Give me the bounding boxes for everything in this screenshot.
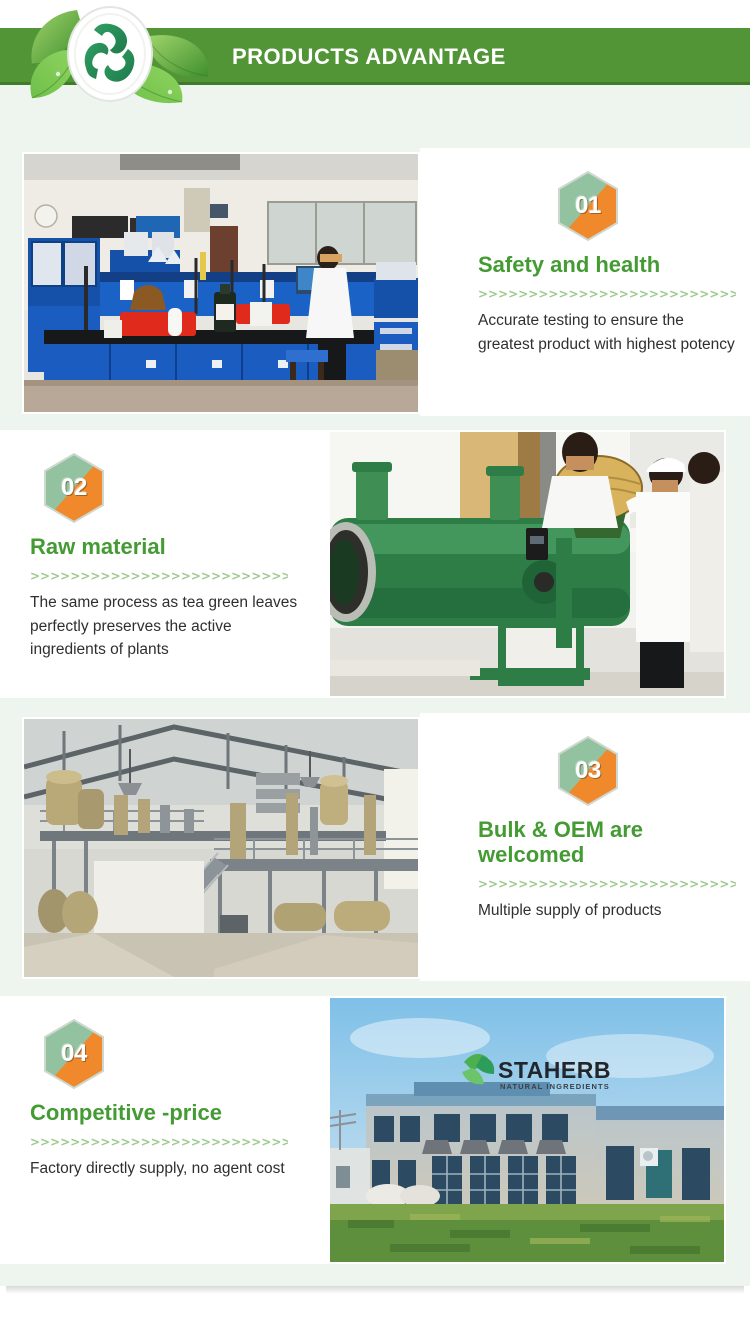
advantage-row-3: 03 Bulk & OEM are welcomed >>>>>>>>>>>>>… xyxy=(0,713,750,981)
badge-number-label: 04 xyxy=(42,1018,106,1090)
number-badge-04: 04 xyxy=(42,1018,106,1090)
advantage-row-4: 04 Competitive -price >>>>>>>>>>>>>>>>>>… xyxy=(0,996,750,1264)
card-text-panel-04: 04 Competitive -price >>>>>>>>>>>>>>>>>>… xyxy=(0,996,330,1264)
photo-laboratory xyxy=(22,152,420,414)
card-body-04: Factory directly supply, no agent cost xyxy=(30,1157,298,1181)
card-title-04: Competitive -price xyxy=(30,1100,306,1125)
card-text-panel-01: 01 Safety and health >>>>>>>>>>>>>>>>>>>… xyxy=(420,148,750,416)
chevron-divider-04: >>>>>>>>>>>>>>>>>>>>>>>>>>>>>>>> xyxy=(30,1136,288,1148)
chevron-divider-03: >>>>>>>>>>>>>>>>>>>>>>>>>>>>>>>> xyxy=(478,878,736,890)
badge-number-label: 01 xyxy=(556,170,620,242)
staherb-leaf-logo-icon xyxy=(22,2,212,110)
number-badge-03: 03 xyxy=(556,735,620,807)
number-badge-02: 02 xyxy=(42,452,106,524)
chevron-divider-02: >>>>>>>>>>>>>>>>>>>>>>>>>>>>>>>> xyxy=(30,570,288,582)
page-bottom-edge xyxy=(0,1286,750,1326)
card-title-01: Safety and health xyxy=(478,252,726,277)
card-body-03: Multiple supply of products xyxy=(478,899,740,923)
card-title-03: Bulk & OEM are welcomed xyxy=(478,817,726,867)
photo-factory-building: STAHERB NATURAL INGREDIENTS xyxy=(328,996,726,1264)
badge-number-label: 02 xyxy=(42,452,106,524)
page-title: PRODUCTS ADVANTAGE xyxy=(232,28,506,85)
advantage-row-1: 01 Safety and health >>>>>>>>>>>>>>>>>>>… xyxy=(0,148,750,416)
chevron-divider-01: >>>>>>>>>>>>>>>>>>>>>>>>>>>>>>>> xyxy=(478,288,736,300)
badge-number-label: 03 xyxy=(556,735,620,807)
card-body-02: The same process as tea green leaves per… xyxy=(30,591,298,662)
products-advantage-page: PRODUCTS ADVANTAGE xyxy=(0,0,750,1326)
factory-sign-name: STAHERB xyxy=(498,1057,611,1083)
card-title-02: Raw material xyxy=(30,534,306,559)
card-body-01: Accurate testing to ensure the greatest … xyxy=(478,309,740,356)
photo-extraction-workshop xyxy=(22,717,420,979)
advantage-row-2: 02 Raw material >>>>>>>>>>>>>>>>>>>>>>>>… xyxy=(0,430,750,698)
photo-roasting-machine xyxy=(328,430,726,698)
card-text-panel-03: 03 Bulk & OEM are welcomed >>>>>>>>>>>>>… xyxy=(420,713,750,981)
number-badge-01: 01 xyxy=(556,170,620,242)
card-text-panel-02: 02 Raw material >>>>>>>>>>>>>>>>>>>>>>>>… xyxy=(0,430,330,698)
factory-sign-tagline: NATURAL INGREDIENTS xyxy=(500,1082,610,1091)
